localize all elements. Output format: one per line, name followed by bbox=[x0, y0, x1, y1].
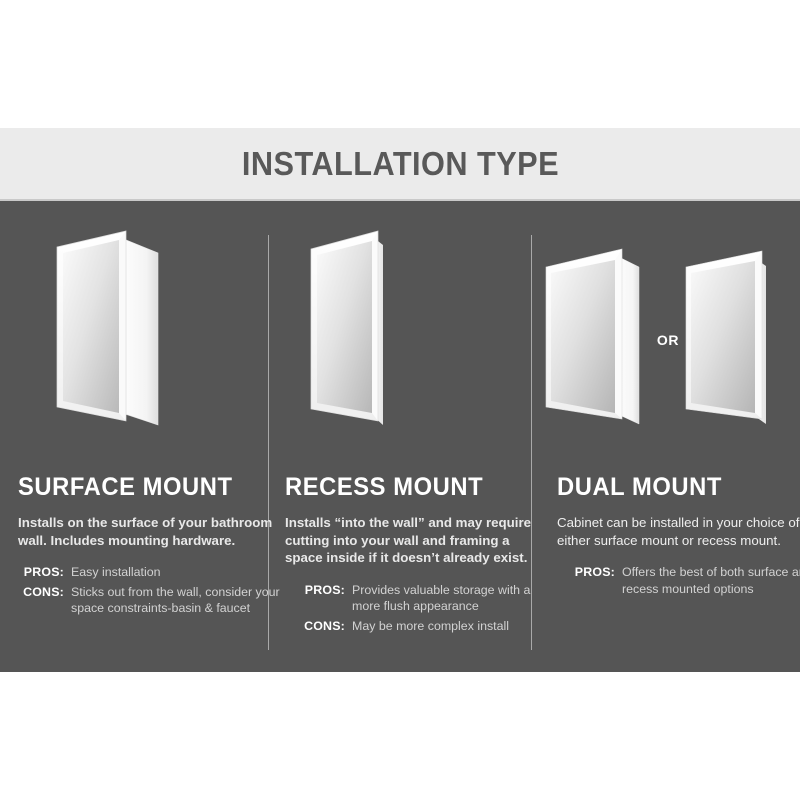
illustration-surface-mount bbox=[0, 201, 268, 461]
pros-label: PROS: bbox=[569, 564, 615, 581]
text-block-recess-mount: RECESS MOUNT Installs “into the wall” an… bbox=[268, 473, 568, 637]
title-band: INSTALLATION TYPE bbox=[0, 128, 800, 199]
cons-row: CONS: Sticks out from the wall, consider… bbox=[18, 584, 286, 617]
page-title: INSTALLATION TYPE bbox=[241, 145, 558, 183]
pros-cons-dual-mount: PROS: Offers the best of both surface an… bbox=[557, 564, 800, 597]
pros-cons-surface-mount: PROS: Easy installation CONS: Sticks out… bbox=[18, 564, 286, 617]
pros-row: PROS: Provides valuable storage with a m… bbox=[299, 582, 548, 615]
cons-value: May be more complex install bbox=[352, 618, 548, 635]
cons-value: Sticks out from the wall, consider your … bbox=[71, 584, 286, 617]
dual-right-cabinet bbox=[686, 251, 766, 424]
installation-type-infographic: INSTALLATION TYPE bbox=[0, 0, 800, 800]
heading-surface-mount: SURFACE MOUNT bbox=[18, 473, 273, 502]
pros-cons-recess-mount: PROS: Provides valuable storage with a m… bbox=[285, 582, 548, 635]
pros-label: PROS: bbox=[18, 564, 64, 581]
cabinet-surface-mount-icon bbox=[56, 225, 216, 440]
pros-value: Provides valuable storage with a more fl… bbox=[352, 582, 548, 615]
text-block-surface-mount: SURFACE MOUNT Installs on the surface of… bbox=[0, 473, 308, 620]
pros-label: PROS: bbox=[299, 582, 345, 599]
cabinet-recess-mount-icon bbox=[310, 225, 470, 440]
text-block-dual-mount: DUAL MOUNT Cabinet can be installed in y… bbox=[531, 473, 800, 600]
pros-value: Easy installation bbox=[71, 564, 286, 581]
illustration-recess-mount bbox=[268, 201, 531, 461]
or-separator-label: OR bbox=[653, 332, 683, 348]
dual-left-cabinet bbox=[546, 249, 639, 424]
pros-row: PROS: Offers the best of both surface an… bbox=[569, 564, 800, 597]
column-recess-mount: RECESS MOUNT Installs “into the wall” an… bbox=[268, 201, 531, 672]
pros-value: Offers the best of both surface and rece… bbox=[622, 564, 800, 597]
description-recess-mount: Installs “into the wall” and may require… bbox=[285, 514, 548, 567]
pros-row: PROS: Easy installation bbox=[18, 564, 286, 581]
cons-label: CONS: bbox=[299, 618, 345, 635]
description-surface-mount: Installs on the surface of your bathroom… bbox=[18, 514, 286, 549]
cons-row: CONS: May be more complex install bbox=[299, 618, 548, 635]
column-dual-mount: OR DUAL MOUNT Cabinet can be installed i… bbox=[531, 201, 800, 672]
heading-dual-mount: DUAL MOUNT bbox=[557, 473, 800, 502]
description-dual-mount: Cabinet can be installed in your choice … bbox=[557, 514, 800, 549]
heading-recess-mount: RECESS MOUNT bbox=[285, 473, 535, 502]
illustration-dual-mount: OR bbox=[531, 201, 800, 461]
cons-label: CONS: bbox=[18, 584, 64, 601]
column-surface-mount: SURFACE MOUNT Installs on the surface of… bbox=[0, 201, 268, 672]
